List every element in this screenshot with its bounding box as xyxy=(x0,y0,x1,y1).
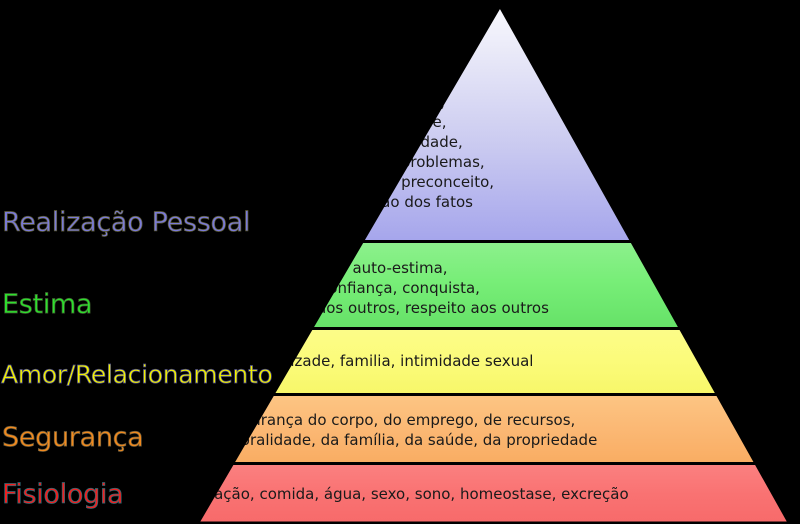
side-label-safety: Segurança xyxy=(2,424,143,451)
pyramid-tier-esteem[interactable]: auto-estima, confiança, conquista, respe… xyxy=(0,240,800,330)
tier-content-esteem: auto-estima, confiança, conquista, respe… xyxy=(247,251,553,319)
tier-content-safety: segurança do corpo, do emprego, de recur… xyxy=(199,407,602,451)
side-label-physiological: Fisiologia xyxy=(2,481,123,508)
tier-content-self-actualization: moralidade, criatividade, espontaneidade… xyxy=(302,27,498,213)
tier-content-love: amizade, familia, intimidade sexual xyxy=(263,352,538,372)
side-label-esteem: Estima xyxy=(2,291,92,318)
side-label-love: Amor/Relacionamento xyxy=(1,362,272,387)
tier-content-physiological: respiração, comida, água, sexo, sono, ho… xyxy=(167,485,632,505)
side-label-self-actualization: Realização Pessoal xyxy=(2,209,250,236)
